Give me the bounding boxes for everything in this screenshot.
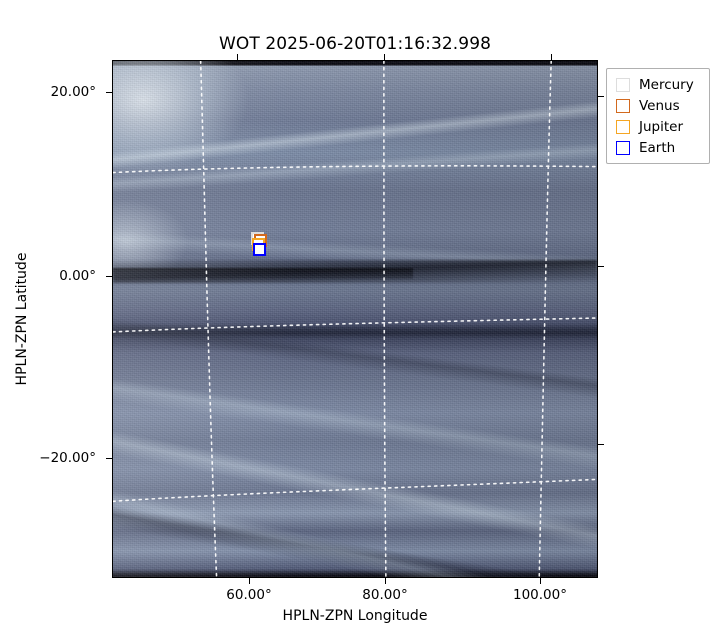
legend-label-earth: Earth bbox=[639, 140, 675, 156]
graticule-lat-20 bbox=[113, 166, 597, 173]
x-tick-mark-100 bbox=[540, 578, 541, 584]
graticule-lat-minus20 bbox=[113, 479, 597, 501]
legend-swatch-jupiter bbox=[616, 120, 630, 134]
y-tick-mark-0 bbox=[106, 276, 112, 277]
x-tick-mark-80 bbox=[385, 578, 386, 584]
x-tick-label-100: 100.00° bbox=[513, 587, 567, 603]
coordinate-graticule bbox=[113, 61, 597, 577]
y-tick-mark-right-minus20 bbox=[598, 444, 604, 445]
page-title: WOT 2025-06-20T01:16:32.998 bbox=[112, 34, 598, 54]
x-tick-label-60: 60.00° bbox=[226, 587, 271, 603]
legend-item-earth[interactable]: Earth bbox=[613, 137, 703, 158]
x-tick-label-80: 80.00° bbox=[362, 587, 407, 603]
graticule-lon-80 bbox=[384, 61, 386, 577]
x-tick-mark-60 bbox=[249, 578, 250, 584]
legend[interactable]: Mercury Venus Jupiter Earth bbox=[606, 68, 710, 164]
graticule-lat-0 bbox=[113, 318, 597, 332]
y-tick-mark-minus20 bbox=[106, 458, 112, 459]
x-tick-mark-top-60 bbox=[237, 54, 238, 60]
y-tick-label-0: 0.00° bbox=[59, 268, 96, 284]
legend-swatch-mercury bbox=[616, 78, 630, 92]
marker-earth[interactable] bbox=[253, 243, 266, 256]
legend-swatch-earth bbox=[616, 141, 630, 155]
x-axis-title: HPLN-ZPN Longitude bbox=[283, 608, 428, 624]
y-axis-title: HPLN-ZPN Latitude bbox=[14, 253, 30, 386]
legend-item-venus[interactable]: Venus bbox=[613, 95, 703, 116]
y-tick-label-minus20: −20.00° bbox=[39, 450, 96, 466]
figure-canvas: WOT 2025-06-20T01:16:32.998 bbox=[0, 0, 720, 640]
legend-label-mercury: Mercury bbox=[639, 77, 694, 93]
legend-swatch-venus bbox=[616, 99, 630, 113]
y-tick-mark-20 bbox=[106, 92, 112, 93]
y-tick-mark-right-20 bbox=[598, 96, 604, 97]
legend-label-venus: Venus bbox=[639, 98, 680, 114]
legend-item-mercury[interactable]: Mercury bbox=[613, 74, 703, 95]
plot-axes[interactable] bbox=[112, 60, 598, 578]
legend-label-jupiter: Jupiter bbox=[639, 119, 683, 135]
graticule-lon-60 bbox=[201, 61, 217, 577]
legend-item-jupiter[interactable]: Jupiter bbox=[613, 116, 703, 137]
x-tick-mark-top-100 bbox=[551, 54, 552, 60]
y-tick-mark-right-0 bbox=[598, 266, 604, 267]
y-tick-label-20: 20.00° bbox=[51, 84, 96, 100]
x-tick-mark-top-80 bbox=[384, 54, 385, 60]
